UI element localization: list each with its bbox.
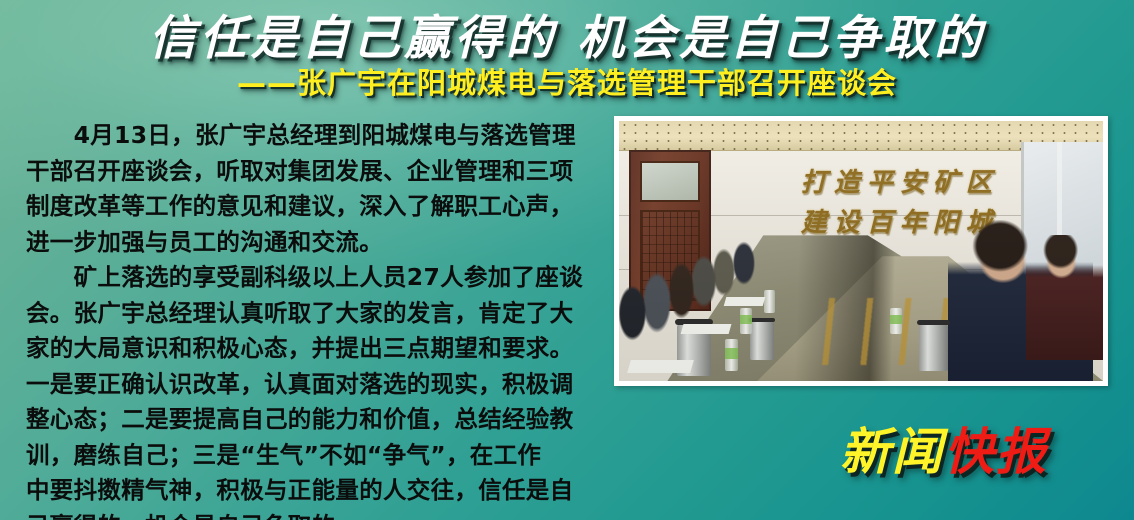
door-glass-panel [640, 161, 699, 202]
article-line: 整心态；二是要提高自己的能力和价值，总结经验教 [26, 402, 598, 438]
document-paper [680, 324, 731, 334]
meeting-photo: 打造平安矿区 建设百年阳城 [619, 121, 1103, 381]
water-bottle [740, 308, 752, 334]
water-bottle [764, 290, 775, 313]
article-line: 进一步加强与员工的沟通和交流。 [26, 225, 598, 261]
article-line: 制度改革等工作的意见和建议，深入了解职工心声， [26, 189, 598, 225]
article-line: 训，磨练自己；三是“生气”不如“争气”，在工作 [26, 438, 598, 474]
seated-person-right [1026, 235, 1103, 360]
page-title: 信任是自己赢得的 机会是自己争取的 [0, 12, 1134, 66]
meeting-photo-frame: 打造平安矿区 建设百年阳城 [614, 116, 1108, 386]
news-flash-logo: 新闻快报 [840, 412, 1048, 484]
news-poster: 信任是自己赢得的 机会是自己争取的 ——张广宇在阳城煤电与落选管理干部召开座谈会… [0, 0, 1134, 520]
article-line: 4月13日，张广宇总经理到阳城煤电与落选管理 [26, 118, 598, 154]
poster-header: 信任是自己赢得的 机会是自己争取的 ——张广宇在阳城煤电与落选管理干部召开座谈会 [0, 0, 1134, 108]
article-line: 一是要正确认识改革，认真面对落选的现实，积极调 [26, 367, 598, 403]
document-paper [724, 297, 765, 306]
article-line: 矿上落选的享受副科级以上人员27人参加了座谈 [26, 260, 598, 296]
article-line: 中要抖擞精气神，积极与正能量的人交往，信任是自 [26, 473, 598, 509]
water-bottle [890, 308, 902, 334]
water-bottle [725, 339, 738, 370]
article-line: 己赢得的，机会是自己争取的。 [26, 509, 598, 520]
page-subtitle: ——张广宇在阳城煤电与落选管理干部召开座谈会 [0, 66, 1134, 100]
article-line: 会。张广宇总经理认真听取了大家的发言，肯定了大 [26, 296, 598, 332]
article-line: 干部召开座谈会，听取对集团发展、企业管理和三项 [26, 154, 598, 190]
wall-calligraphy-line1: 打造平安矿区 [755, 163, 1045, 203]
logo-text-news: 新闻 [840, 423, 944, 481]
article-body: 4月13日，张广宇总经理到阳城煤电与落选管理 干部召开座谈会，听取对集团发展、企… [26, 118, 598, 520]
article-line: 家的大局意识和积极心态，并提出三点期望和要求。 [26, 331, 598, 367]
thermos-flask [750, 321, 774, 360]
thermos-flask [919, 324, 948, 371]
document-paper [627, 360, 694, 373]
logo-text-flash: 快报 [944, 423, 1048, 481]
